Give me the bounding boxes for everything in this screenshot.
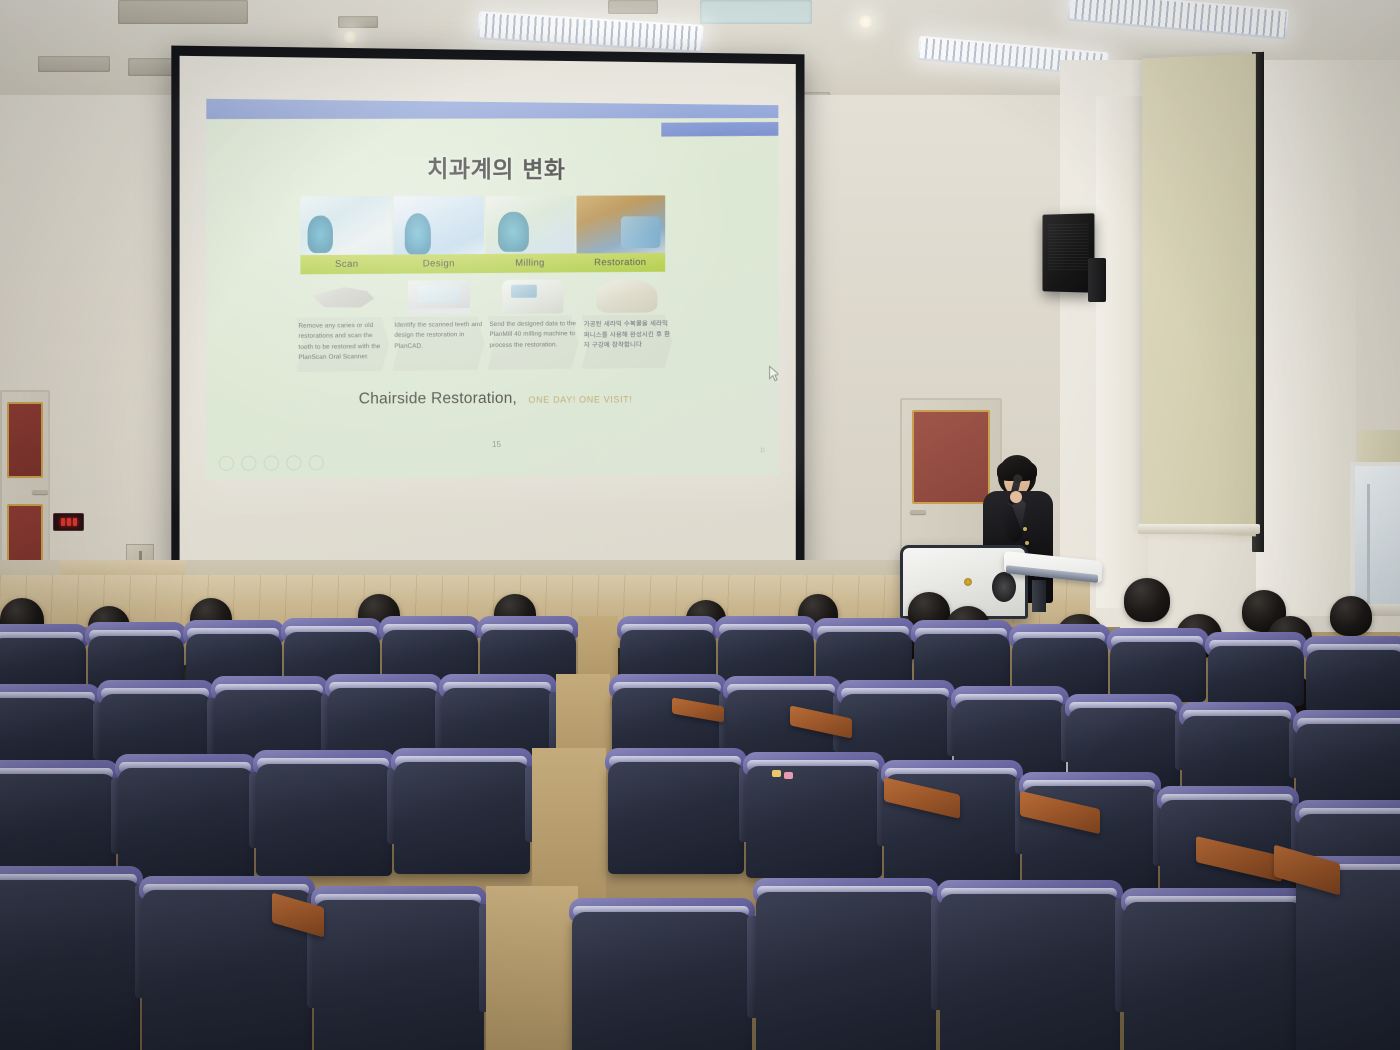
door-panel-upper: [7, 402, 44, 478]
auditorium-seat[interactable]: [940, 880, 1120, 1050]
wall-speaker: [1043, 213, 1095, 292]
auditorium-seat[interactable]: [394, 748, 530, 874]
center-aisle: [486, 886, 578, 1050]
workflow-label-bar: Scan Design Milling Restoration: [300, 253, 665, 274]
milling-machine-icon: [502, 279, 564, 313]
auditorium-seat[interactable]: [1182, 702, 1294, 798]
auditorium-seat[interactable]: [756, 878, 936, 1050]
slides-icon[interactable]: [264, 455, 279, 470]
slide-corner-mark: D: [761, 448, 765, 454]
seat-sticker: [784, 772, 793, 779]
auditorium-seat[interactable]: [256, 750, 392, 876]
slide-footer: Chairside Restoration, ONE DAY! ONE VISI…: [206, 389, 778, 409]
presenter-button: [1023, 527, 1027, 531]
window-blind-rail[interactable]: [1138, 524, 1260, 534]
auditorium-seat[interactable]: [608, 748, 744, 874]
footer-main-text: Chairside Restoration,: [359, 390, 517, 408]
presenter-hand: [1010, 491, 1022, 503]
seat-sticker: [772, 770, 781, 777]
workflow-steps: Remove any caries or old restorations an…: [296, 279, 672, 374]
auditorium-seat[interactable]: [746, 752, 882, 878]
auditorium-seat[interactable]: [1306, 636, 1400, 712]
door-panel-upper: [912, 410, 990, 504]
dental-crown-icon: [596, 279, 657, 313]
stage-label-restoration: Restoration: [575, 257, 665, 269]
podium-speaker-hole: [992, 572, 1016, 602]
workflow-step-milling: Send the designed data to the PlanMill 4…: [488, 279, 579, 372]
slide-photo-strip: [300, 195, 665, 259]
workflow-step-scan: Remove any caries or old restorations an…: [296, 281, 389, 375]
door-handle[interactable]: [32, 490, 48, 494]
photo-design: [393, 196, 483, 259]
presentation-toolbar[interactable]: [219, 455, 324, 471]
ceiling-vent: [118, 0, 248, 24]
pointer-icon[interactable]: [219, 456, 234, 471]
podium-support-leg: [1032, 580, 1046, 612]
auditorium-seat[interactable]: [884, 760, 1020, 886]
slide-title: 치과계의 변화: [206, 147, 778, 186]
stage-label-design: Design: [393, 258, 485, 270]
ceiling-vent: [38, 56, 110, 72]
auditorium-seat[interactable]: [1124, 888, 1304, 1050]
step-text-scan: Remove any caries or old restorations an…: [298, 321, 387, 364]
auditorium-seat[interactable]: [118, 754, 254, 880]
workflow-step-restoration: 가공된 세라믹 수복물을 세라믹 퍼니스를 사용해 완성시킨 후 환자 구강에 …: [582, 279, 672, 371]
screen-surface: 치과계의 변화 Scan Design Milling Restoration: [180, 56, 796, 591]
podium-emblem: [964, 578, 972, 586]
more-icon[interactable]: [309, 455, 324, 470]
step-text-restoration: 가공된 세라믹 수복물을 세라믹 퍼니스를 사용해 완성시킨 후 환자 구강에 …: [584, 318, 670, 351]
speaker-mount-bracket: [1088, 258, 1106, 302]
ceiling-spot-light: [858, 14, 873, 29]
step-text-design: Identify the scanned teeth and design th…: [394, 320, 482, 352]
presenter-button: [1025, 541, 1029, 545]
ceiling-spot-light: [343, 30, 357, 44]
stage-label-scan: Scan: [300, 259, 392, 271]
stage-label-milling: Milling: [485, 257, 576, 269]
wall-column: [1256, 60, 1356, 616]
auditorium-seat[interactable]: [1296, 710, 1400, 808]
audience-head: [1330, 596, 1372, 636]
audience-head: [1124, 578, 1170, 622]
footer-highlight-text: ONE DAY! ONE VISIT!: [528, 394, 632, 404]
window: [1350, 462, 1400, 616]
workflow-step-design: Identify the scanned teeth and design th…: [392, 280, 484, 373]
photo-scan: [300, 196, 391, 259]
auditorium-seat[interactable]: [572, 898, 752, 1050]
auditorium-seat[interactable]: [0, 866, 140, 1050]
auditorium-seat[interactable]: [1208, 632, 1304, 706]
auditorium-seat[interactable]: [1110, 628, 1206, 702]
step-text-milling: Send the designed data to the PlanMill 4…: [490, 319, 577, 351]
lecture-hall-photo: 치과계의 변화 Scan Design Milling Restoration: [0, 0, 1400, 1050]
oral-scanner-icon: [311, 281, 374, 316]
pen-icon[interactable]: [241, 456, 256, 471]
ceiling-vent: [608, 0, 658, 14]
auditorium-seat[interactable]: [314, 886, 484, 1050]
slide-number: 15: [492, 440, 501, 449]
photo-milling: [486, 196, 575, 258]
blank-icon[interactable]: [286, 455, 301, 470]
door-handle[interactable]: [910, 510, 926, 514]
led-display-panel: [53, 513, 84, 531]
slide-top-band-accent: [661, 122, 778, 137]
window-blind[interactable]: [1142, 54, 1256, 537]
projection-screen: 치과계의 변화 Scan Design Milling Restoration: [171, 46, 804, 600]
presentation-slide: 치과계의 변화 Scan Design Milling Restoration: [206, 99, 778, 479]
ceiling-vent: [338, 16, 378, 28]
ceiling-panel: [700, 0, 812, 24]
slide-top-band: [206, 99, 778, 119]
photo-restoration: [577, 195, 665, 257]
laptop-cad-icon: [407, 280, 469, 315]
